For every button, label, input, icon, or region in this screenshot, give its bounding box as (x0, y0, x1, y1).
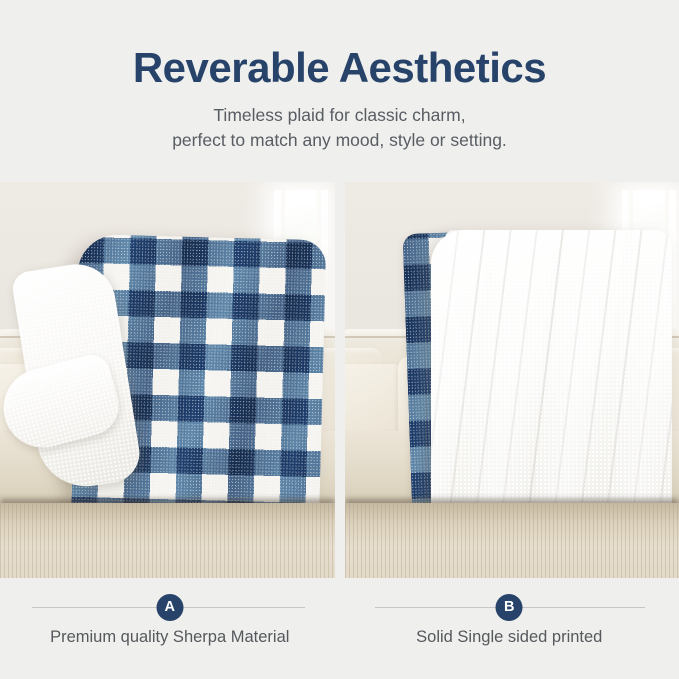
page-subtitle: Timeless plaid for classic charm, perfec… (0, 90, 679, 153)
photo-panel-a (0, 182, 335, 578)
header: Reverable Aesthetics Timeless plaid for … (0, 0, 679, 182)
page-title: Reverable Aesthetics (0, 0, 679, 90)
caption-block-b: B Solid Single sided printed (340, 578, 679, 679)
caption-row: A Premium quality Sherpa Material B Soli… (0, 578, 679, 679)
subtitle-line-2: perfect to match any mood, style or sett… (0, 128, 679, 153)
floor-carpet (0, 503, 335, 578)
badge-b: B (496, 594, 523, 621)
badge-a: A (156, 594, 183, 621)
caption-block-a: A Premium quality Sherpa Material (0, 578, 340, 679)
caption-text-b: Solid Single sided printed (340, 628, 679, 647)
comparison-photo-row (0, 182, 679, 578)
caption-text-a: Premium quality Sherpa Material (0, 628, 340, 647)
floor-carpet (345, 503, 679, 578)
subtitle-line-1: Timeless plaid for classic charm, (0, 103, 679, 128)
photo-panel-b (345, 182, 679, 578)
